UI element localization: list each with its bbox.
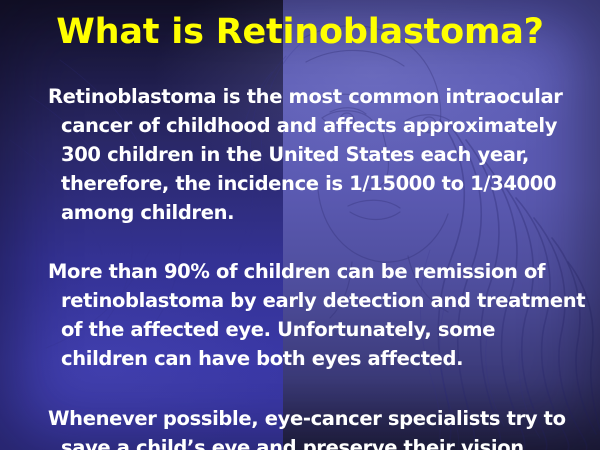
presentation-slide: What is Retinoblastoma? Retinoblastoma i… <box>0 0 600 450</box>
page-title: What is Retinoblastoma? <box>0 14 600 51</box>
body-paragraph: More than 90% of children can be remissi… <box>48 257 586 373</box>
slide-body: Retinoblastoma is the most common intrao… <box>48 82 586 450</box>
body-paragraph: Whenever possible, eye-cancer specialist… <box>48 404 586 450</box>
body-paragraph: Retinoblastoma is the most common intrao… <box>48 82 586 227</box>
slide-content: What is Retinoblastoma? Retinoblastoma i… <box>0 0 600 450</box>
